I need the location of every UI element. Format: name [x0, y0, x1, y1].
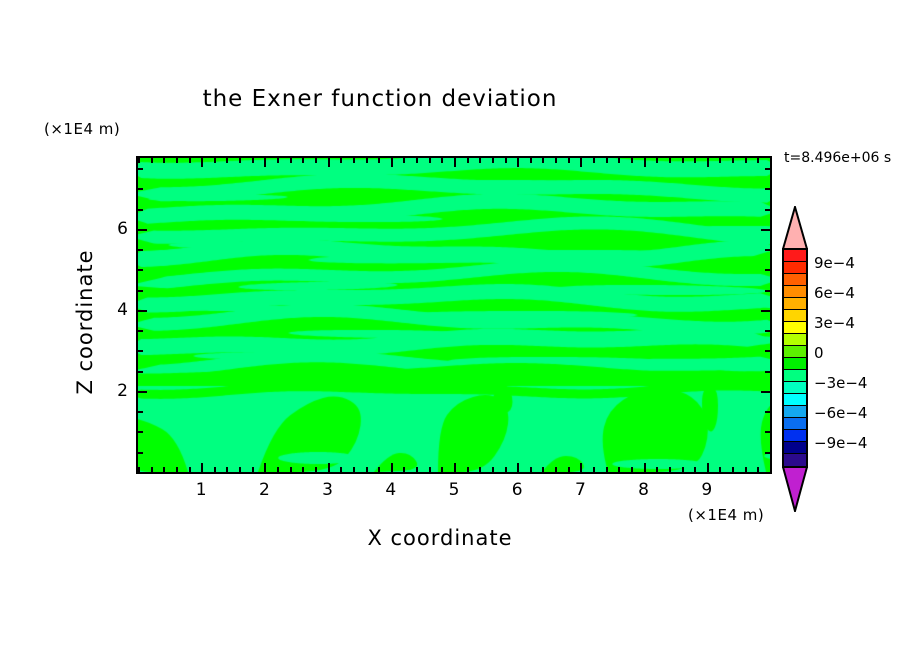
- x-tick-minor: [745, 467, 747, 472]
- x-tick-minor: [353, 158, 355, 163]
- x-tick-minor: [138, 158, 140, 163]
- x-tick-minor: [479, 467, 481, 472]
- colorbar-segment: [784, 286, 806, 298]
- y-tick-major: [761, 310, 770, 312]
- x-tick-minor: [694, 158, 696, 163]
- x-tick-minor: [757, 467, 759, 472]
- x-tick-minor: [239, 158, 241, 163]
- colorbar-tick-label: −9e−4: [814, 434, 867, 452]
- colorbar-segment: [784, 274, 806, 286]
- y-tick-minor: [765, 472, 770, 474]
- colorbar-segment: [784, 322, 806, 334]
- x-tick-minor: [492, 158, 494, 163]
- x-tick-minor: [618, 158, 620, 163]
- y-tick-minor: [138, 269, 143, 271]
- x-tick-minor: [441, 158, 443, 163]
- x-tick-minor: [151, 158, 153, 163]
- x-tick-minor: [505, 467, 507, 472]
- x-tick-major: [517, 158, 519, 167]
- x-tick-minor: [315, 467, 317, 472]
- colorbar-tick-label: −3e−4: [814, 374, 867, 392]
- y-tick-minor: [138, 168, 143, 170]
- y-axis-title: Z coordinate: [73, 212, 97, 432]
- y-tick-minor: [765, 452, 770, 454]
- x-tick-label: 3: [322, 480, 333, 500]
- colorbar-segment: [784, 418, 806, 430]
- colorbar-segment: [784, 334, 806, 346]
- colorbar-segment: [784, 250, 806, 262]
- x-tick-minor: [441, 467, 443, 472]
- x-tick-minor: [606, 467, 608, 472]
- x-tick-major: [264, 158, 266, 167]
- x-tick-major: [644, 158, 646, 167]
- x-tick-minor: [656, 467, 658, 472]
- x-tick-minor: [151, 467, 153, 472]
- y-tick-minor: [765, 411, 770, 413]
- y-tick-minor: [138, 249, 143, 251]
- colorbar-cap-bottom-icon: [782, 466, 808, 512]
- colorbar-segment: [784, 262, 806, 274]
- x-tick-major: [391, 463, 393, 472]
- colorbar-segment: [784, 346, 806, 358]
- x-tick-major: [707, 463, 709, 472]
- colorbar-segment: [784, 454, 806, 466]
- x-tick-minor: [555, 158, 557, 163]
- x-tick-major: [707, 158, 709, 167]
- x-tick-minor: [745, 158, 747, 163]
- x-tick-minor: [239, 467, 241, 472]
- x-tick-minor: [669, 158, 671, 163]
- x-tick-label: 7: [575, 480, 586, 500]
- y-tick-minor: [138, 209, 143, 211]
- x-tick-minor: [606, 158, 608, 163]
- y-tick-major: [761, 391, 770, 393]
- x-tick-minor: [226, 467, 228, 472]
- x-tick-minor: [694, 467, 696, 472]
- colorbar[interactable]: 9e−46e−43e−40−3e−4−6e−4−9e−4: [778, 202, 904, 514]
- y-tick-label: 6: [98, 219, 128, 239]
- x-tick-minor: [656, 158, 658, 163]
- y-tick-minor: [138, 290, 143, 292]
- x-tick-minor: [492, 467, 494, 472]
- x-tick-minor: [163, 158, 165, 163]
- x-tick-major: [517, 463, 519, 472]
- colorbar-tick-label: 3e−4: [814, 314, 855, 332]
- x-tick-minor: [770, 158, 772, 163]
- colorbar-segment: [784, 358, 806, 370]
- x-tick-minor: [568, 158, 570, 163]
- y-tick-minor: [138, 330, 143, 332]
- x-axis-title: X coordinate: [230, 526, 650, 550]
- colorbar-tick-label: 9e−4: [814, 254, 855, 272]
- time-annotation: t=8.496e+06 s: [784, 150, 891, 166]
- x-tick-major: [264, 463, 266, 472]
- x-tick-minor: [757, 158, 759, 163]
- y-tick-major: [138, 391, 147, 393]
- x-tick-minor: [189, 158, 191, 163]
- colorbar-tick-label: −6e−4: [814, 404, 867, 422]
- x-tick-minor: [429, 158, 431, 163]
- y-tick-minor: [765, 330, 770, 332]
- x-tick-minor: [403, 467, 405, 472]
- x-tick-major: [328, 463, 330, 472]
- x-tick-minor: [176, 158, 178, 163]
- x-tick-minor: [189, 467, 191, 472]
- colorbar-segment: [784, 394, 806, 406]
- y-tick-minor: [765, 168, 770, 170]
- x-tick-minor: [542, 158, 544, 163]
- x-tick-minor: [631, 467, 633, 472]
- y-tick-minor: [765, 431, 770, 433]
- x-tick-major: [201, 463, 203, 472]
- x-tick-major: [644, 463, 646, 472]
- x-tick-label: 9: [701, 480, 712, 500]
- y-tick-minor: [765, 188, 770, 190]
- x-tick-minor: [429, 467, 431, 472]
- y-tick-minor: [138, 188, 143, 190]
- x-tick-minor: [366, 467, 368, 472]
- x-tick-minor: [403, 158, 405, 163]
- x-tick-label: 2: [259, 480, 270, 500]
- x-tick-minor: [593, 467, 595, 472]
- x-tick-minor: [631, 158, 633, 163]
- colorbar-segment: [784, 298, 806, 310]
- x-tick-major: [391, 158, 393, 167]
- x-tick-minor: [467, 467, 469, 472]
- y-tick-minor: [138, 350, 143, 352]
- x-tick-major: [201, 158, 203, 167]
- x-tick-minor: [290, 158, 292, 163]
- y-tick-minor: [138, 431, 143, 433]
- x-tick-minor: [555, 467, 557, 472]
- x-tick-minor: [568, 467, 570, 472]
- x-tick-label: 1: [196, 480, 207, 500]
- y-tick-major: [138, 229, 147, 231]
- colorbar-cap-top-icon: [782, 206, 808, 250]
- x-tick-minor: [378, 467, 380, 472]
- contour-field: [138, 158, 770, 472]
- x-tick-major: [580, 158, 582, 167]
- x-tick-major: [580, 463, 582, 472]
- colorbar-tick-label: 0: [814, 344, 824, 362]
- x-tick-minor: [530, 158, 532, 163]
- y-tick-minor: [765, 371, 770, 373]
- colorbar-segment: [784, 442, 806, 454]
- y-tick-minor: [138, 371, 143, 373]
- x-tick-minor: [340, 158, 342, 163]
- x-tick-minor: [770, 467, 772, 472]
- x-tick-minor: [214, 467, 216, 472]
- x-tick-minor: [479, 158, 481, 163]
- x-tick-label: 4: [385, 480, 396, 500]
- y-tick-label: 2: [98, 381, 128, 401]
- y-tick-minor: [765, 290, 770, 292]
- x-tick-minor: [163, 467, 165, 472]
- x-tick-minor: [416, 158, 418, 163]
- x-tick-minor: [353, 467, 355, 472]
- x-tick-minor: [366, 158, 368, 163]
- colorbar-tick-label: 6e−4: [814, 284, 855, 302]
- colorbar-segment: [784, 370, 806, 382]
- x-tick-minor: [315, 158, 317, 163]
- colorbar-segment: [784, 406, 806, 418]
- x-tick-minor: [732, 158, 734, 163]
- y-tick-minor: [138, 411, 143, 413]
- contour-plot-area[interactable]: [136, 156, 772, 474]
- colorbar-segment: [784, 310, 806, 322]
- x-tick-minor: [505, 158, 507, 163]
- x-tick-major: [328, 158, 330, 167]
- x-tick-minor: [214, 158, 216, 163]
- colorbar-segment: [784, 382, 806, 394]
- y-tick-minor: [138, 472, 143, 474]
- y-tick-minor: [765, 269, 770, 271]
- x-tick-minor: [226, 158, 228, 163]
- x-tick-minor: [530, 467, 532, 472]
- x-tick-minor: [277, 158, 279, 163]
- colorbar-segments: [782, 248, 808, 468]
- x-tick-minor: [176, 467, 178, 472]
- x-tick-minor: [719, 158, 721, 163]
- x-tick-label: 5: [449, 480, 460, 500]
- x-tick-minor: [618, 467, 620, 472]
- x-tick-label: 8: [638, 480, 649, 500]
- x-tick-minor: [378, 158, 380, 163]
- y-tick-major: [138, 310, 147, 312]
- x-tick-label: 6: [512, 480, 523, 500]
- x-tick-major: [454, 463, 456, 472]
- x-tick-minor: [467, 158, 469, 163]
- colorbar-segment: [784, 430, 806, 442]
- x-tick-minor: [593, 158, 595, 163]
- x-tick-minor: [682, 158, 684, 163]
- x-tick-minor: [719, 467, 721, 472]
- x-tick-major: [454, 158, 456, 167]
- x-tick-minor: [290, 467, 292, 472]
- x-axis-unit-label: (×1E4 m): [688, 506, 764, 524]
- y-axis-tick-labels: 246: [98, 0, 128, 654]
- y-tick-minor: [765, 350, 770, 352]
- x-tick-minor: [416, 467, 418, 472]
- x-tick-minor: [340, 467, 342, 472]
- x-tick-minor: [542, 467, 544, 472]
- x-tick-minor: [732, 467, 734, 472]
- x-tick-minor: [252, 467, 254, 472]
- x-tick-minor: [682, 467, 684, 472]
- y-tick-minor: [138, 452, 143, 454]
- x-tick-minor: [277, 467, 279, 472]
- y-tick-label: 4: [98, 300, 128, 320]
- x-tick-minor: [669, 467, 671, 472]
- x-tick-minor: [302, 158, 304, 163]
- y-tick-major: [761, 229, 770, 231]
- x-tick-minor: [302, 467, 304, 472]
- x-tick-minor: [252, 158, 254, 163]
- y-tick-minor: [765, 209, 770, 211]
- y-tick-minor: [765, 249, 770, 251]
